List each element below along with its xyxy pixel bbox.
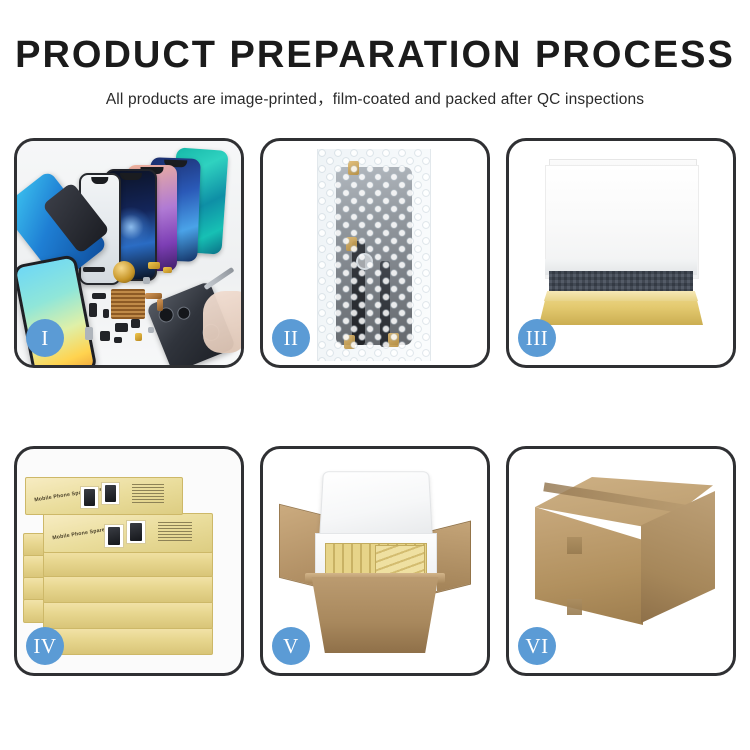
process-step-card-1[interactable]: I bbox=[14, 138, 244, 368]
step-badge-2: II bbox=[272, 319, 310, 357]
step-badge-4: IV bbox=[26, 627, 64, 665]
step-badge-5: V bbox=[272, 627, 310, 665]
step-badge-6: VI bbox=[518, 627, 556, 665]
page-subtitle: All products are image-printed，film-coat… bbox=[0, 87, 750, 109]
page-title: PRODUCT PREPARATION PROCESS bbox=[0, 36, 750, 76]
process-step-card-4[interactable]: Mobile Phone Spare Parts Mobile Phone Sp… bbox=[14, 446, 244, 676]
process-step-card-5[interactable]: V bbox=[260, 446, 490, 676]
process-step-card-3[interactable]: III bbox=[506, 138, 736, 368]
process-step-card-6[interactable]: VI bbox=[506, 446, 736, 676]
page-header: PRODUCT PREPARATION PROCESS All products… bbox=[0, 0, 750, 109]
process-step-grid: I II III bbox=[14, 138, 736, 676]
process-step-card-2[interactable]: II bbox=[260, 138, 490, 368]
step-badge-1: I bbox=[26, 319, 64, 357]
step-badge-3: III bbox=[518, 319, 556, 357]
